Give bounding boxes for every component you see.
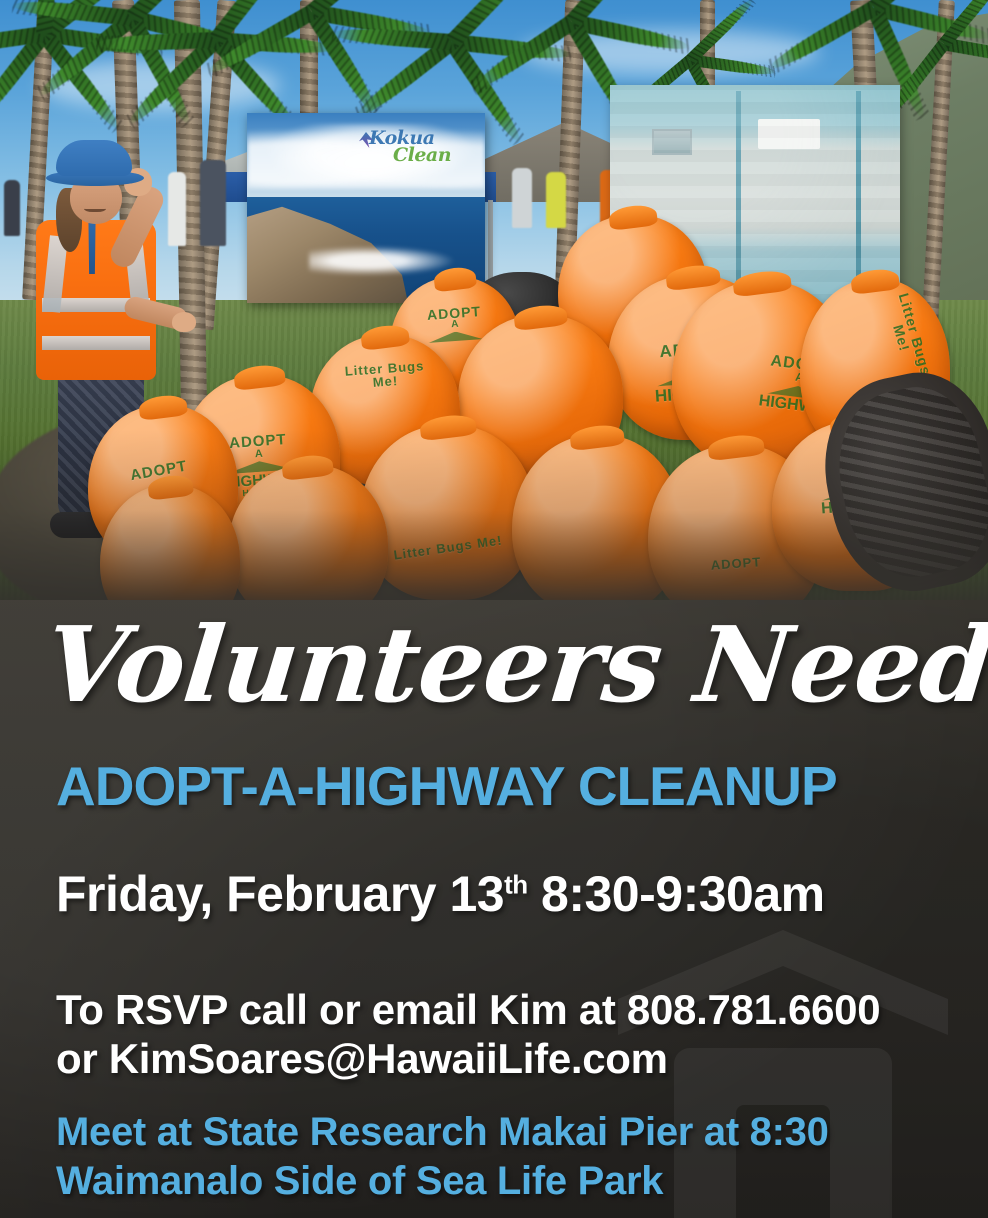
bag-slogan-print: Litter Bugs Me! [384, 532, 511, 563]
banner-logo: Kokua Clean [369, 129, 479, 169]
bag-print: ADOPT [672, 552, 799, 574]
subtitle: ADOPT-A-HIGHWAY CLEANUP [56, 756, 837, 816]
bag-slogan: Litter Bugs Me! [384, 532, 511, 563]
banner-logo-line2: Clean [393, 146, 479, 165]
bag-slogan-print: Litter Bugs Me! [330, 358, 440, 392]
bag-slogan-print: Litter Bugs Me! [881, 286, 935, 386]
bag-slogan: Litter Bugs Me! [881, 286, 935, 386]
bag-print-line1: ADOPT [672, 552, 799, 574]
meeting-area-line: Waimanalo Side of Sea Life Park [56, 1157, 829, 1206]
bag-print-line1: ADOPT [407, 302, 501, 323]
event-date-prefix: Friday, February 13 [56, 866, 504, 922]
date-ordinal-suffix: th [504, 869, 528, 899]
trash-bag [228, 465, 388, 620]
event-time: 8:30-9:30am [528, 866, 825, 922]
rsvp-phone-line[interactable]: To RSVP call or email Kim at 808.781.660… [56, 985, 880, 1034]
bag-print-line2: A [408, 317, 502, 334]
meeting-point-line: Meet at State Research Makai Pier at 8:3… [56, 1108, 829, 1157]
meeting-location-block: Meet at State Research Makai Pier at 8:3… [56, 1108, 829, 1206]
trash-bag: Litter Bugs Me! [360, 425, 535, 600]
flyer-poster: Kokua Clean [0, 0, 988, 1218]
page-title: Volunteers Needed [40, 612, 988, 718]
bag-slogan: Litter Bugs Me! [330, 358, 440, 392]
rsvp-contact-block: To RSVP call or email Kim at 808.781.660… [56, 985, 880, 1083]
rsvp-email-line[interactable]: or KimSoares@HawaiiLife.com [56, 1034, 880, 1083]
trash-bag-pile: ADOPT A HIGHWAY ADOPT A HIGHWAY Litt [60, 215, 940, 620]
event-datetime: Friday, February 13th 8:30-9:30am [56, 865, 825, 923]
event-photograph: Kokua Clean [0, 0, 988, 620]
